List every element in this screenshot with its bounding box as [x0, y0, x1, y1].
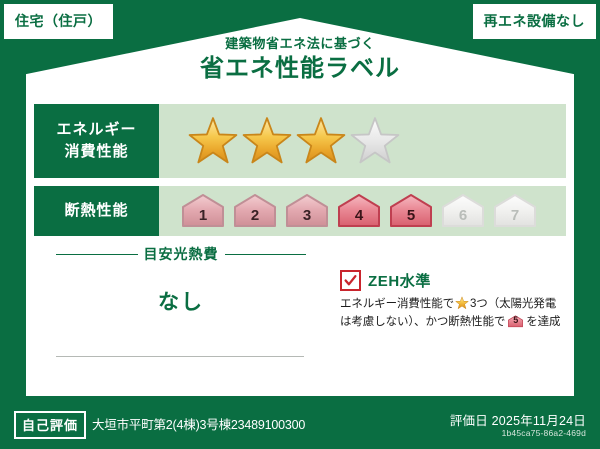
title-subtitle: 建築物省エネ法に基づく [0, 36, 600, 52]
insulation-level-value: 6 [459, 208, 467, 229]
zeh-title: ZEH水準 [368, 270, 431, 291]
zeh-description: エネルギー消費性能で 3つ（太陽光発電は考慮しない）、かつ断熱性能で 5を達成 [340, 296, 566, 332]
rule-left [56, 254, 138, 255]
insulation-level-5: 5 [387, 193, 435, 229]
insulation-level-2: 2 [231, 193, 279, 229]
check-icon [344, 274, 357, 287]
utility-cost-underline [56, 356, 304, 357]
evaluation-date-value: 2025年11月24日 [492, 414, 586, 428]
insulation-level-value: 1 [199, 208, 207, 229]
insulation-level-value: 5 [507, 314, 524, 329]
insulation-performance-label-key: 断熱性能 [34, 186, 159, 236]
insulation-level-value: 4 [355, 208, 363, 229]
utility-cost-title: 目安光熱費 [144, 244, 219, 264]
zeh-desc-part1: エネルギー消費性能で [340, 298, 454, 310]
insulation-level-scale: 1 2 3 4 5 6 7 [179, 193, 539, 229]
energy-performance-row: エネルギー 消費性能 [34, 104, 566, 178]
insulation-performance-value: 1 2 3 4 5 6 7 [159, 186, 566, 236]
energy-label-line1: エネルギー [56, 119, 136, 141]
label-title: 建築物省エネ法に基づく 省エネ性能ラベル [0, 36, 600, 84]
energy-label-line2: 消費性能 [64, 141, 128, 163]
insulation-level-value: 7 [511, 208, 519, 229]
star-icon-filled [295, 115, 347, 167]
label-footer: 自己評価 大垣市平町第2(4棟)3号棟23489100300 評価日 2025年… [0, 400, 600, 449]
insulation-level-6: 6 [439, 193, 487, 229]
insulation-performance-row: 断熱性能 1 2 3 4 5 6 [34, 186, 566, 236]
energy-performance-label-key: エネルギー 消費性能 [34, 104, 159, 178]
zeh-desc-part3: を達成 [526, 316, 560, 328]
insulation-level-1: 1 [179, 193, 227, 229]
property-address: 大垣市平町第2(4棟)3号棟23489100300 [92, 414, 305, 433]
zeh-block: ZEH水準 エネルギー消費性能で 3つ（太陽光発電は考慮しない）、かつ断熱性能で… [340, 270, 566, 332]
zeh-desc-star-count: 3つ（太陽光発電 [470, 298, 556, 310]
star-icon [455, 296, 469, 310]
zeh-desc-part2: は考慮しない）、かつ断熱性能で [340, 316, 505, 328]
title-main: 省エネ性能ラベル [0, 54, 600, 84]
zeh-checkbox[interactable] [340, 270, 361, 291]
insulation-level-icon: 5 [507, 314, 524, 329]
energy-performance-label: 住宅（住戸） 再エネ設備なし 建築物省エネ法に基づく 省エネ性能ラベル エネルギ… [0, 0, 600, 449]
zeh-header: ZEH水準 [340, 270, 566, 291]
star-rating [187, 115, 401, 167]
evaluation-date-label: 評価日 [450, 414, 488, 428]
utility-cost-header: 目安光熱費 [56, 244, 306, 264]
lower-section: 目安光熱費 なし ZEH水準 エネルギー消費性能で [34, 244, 566, 388]
evaluation-date: 評価日 2025年11月24日 [450, 410, 586, 429]
evaluation-type-badge: 自己評価 [14, 411, 86, 439]
insulation-level-value: 2 [251, 208, 259, 229]
badge-renewable-energy: 再エネ設備なし [473, 4, 597, 39]
rule-right [225, 254, 307, 255]
document-id: 1b45ca75-86a2-469d [502, 428, 586, 438]
utility-cost-block: 目安光熱費 なし [56, 244, 306, 316]
insulation-level-value: 5 [407, 208, 415, 229]
badge-building-type: 住宅（住戸） [4, 4, 113, 39]
insulation-level-value: 3 [303, 208, 311, 229]
insulation-level-4: 4 [335, 193, 383, 229]
insulation-level-3: 3 [283, 193, 331, 229]
label-body-panel: エネルギー 消費性能 [26, 96, 574, 396]
star-icon-empty [349, 115, 401, 167]
insulation-label: 断熱性能 [64, 200, 128, 222]
energy-performance-value [159, 104, 566, 178]
star-icon-filled [187, 115, 239, 167]
insulation-level-7: 7 [491, 193, 539, 229]
utility-cost-value: なし [56, 286, 306, 316]
star-icon-filled [241, 115, 293, 167]
